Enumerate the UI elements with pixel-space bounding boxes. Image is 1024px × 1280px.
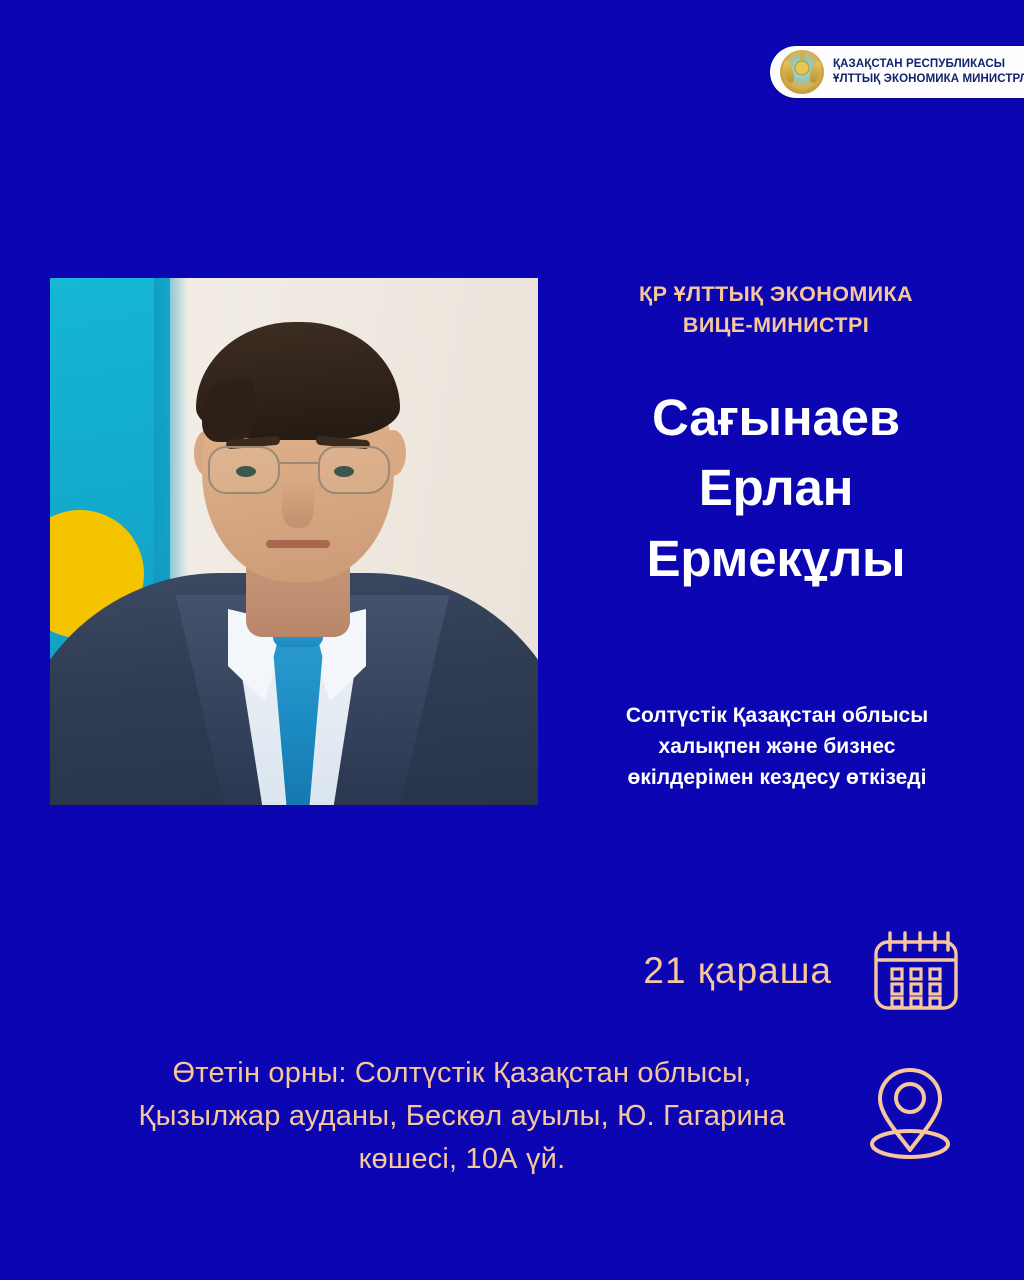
emblem-shanyrak — [795, 61, 810, 76]
person-surname: Сағынаев — [560, 383, 992, 453]
eyeglass-lens-left — [208, 446, 280, 494]
ministry-line-1: ҚАЗАҚСТАН РЕСПУБЛИКАСЫ — [833, 57, 1024, 72]
kazakhstan-coat-of-arms-icon — [780, 50, 824, 94]
person-figure — [50, 278, 538, 805]
map-pin-icon — [866, 1064, 954, 1162]
event-description-line-1: Солтүстік Қазақстан облысы — [560, 700, 994, 731]
eyeglass-bridge — [280, 462, 318, 464]
person-patronymic: Ермекұлы — [560, 524, 992, 594]
ministry-badge: ҚАЗАҚСТАН РЕСПУБЛИКАСЫ ҰЛТТЫҚ ЭКОНОМИКА … — [770, 46, 1024, 98]
ministry-name: ҚАЗАҚСТАН РЕСПУБЛИКАСЫ ҰЛТТЫҚ ЭКОНОМИКА … — [833, 57, 1024, 86]
emblem-wing-left — [781, 60, 796, 84]
person-name: Сағынаев Ерлан Ермекұлы — [560, 383, 992, 594]
role-title-line-1: ҚР ҰЛТТЫҚ ЭКОНОМИКА — [560, 279, 992, 310]
announcement-poster: ҚАЗАҚСТАН РЕСПУБЛИКАСЫ ҰЛТТЫҚ ЭКОНОМИКА … — [0, 0, 1024, 1280]
event-description: Солтүстік Қазақстан облысы халықпен және… — [560, 700, 994, 793]
ministry-line-2: ҰЛТТЫҚ ЭКОНОМИКА МИНИСТРЛІГІ — [833, 72, 1024, 87]
calendar-icon — [872, 930, 960, 1012]
role-title: ҚР ҰЛТТЫҚ ЭКОНОМИКА ВИЦЕ-МИНИСТРІ — [560, 279, 992, 340]
hair — [196, 322, 400, 440]
eyeglass-lens-right — [318, 446, 390, 494]
nose — [282, 482, 314, 528]
event-location-line-1: Өтетін орны: Солтүстік Қазақстан облысы, — [72, 1052, 852, 1095]
event-location-line-2: Қызылжар ауданы, Бескөл ауылы, Ю. Гагари… — [72, 1095, 852, 1138]
role-title-line-2: ВИЦЕ-МИНИСТРІ — [560, 310, 992, 341]
event-date-text: 21 қараша — [643, 950, 832, 992]
portrait-photo — [50, 278, 538, 805]
emblem-wing-right — [808, 60, 823, 84]
event-description-line-3: өкілдерімен кездесу өткізеді — [560, 762, 994, 793]
event-date-row: 21 қараша — [560, 930, 960, 1012]
event-location-address: Өтетін орны: Солтүстік Қазақстан облысы,… — [72, 1052, 852, 1181]
person-firstname: Ерлан — [560, 453, 992, 523]
event-description-line-2: халықпен және бизнес — [560, 731, 994, 762]
event-location-line-3: көшесі, 10А үй. — [72, 1138, 852, 1181]
mouth — [266, 540, 330, 548]
